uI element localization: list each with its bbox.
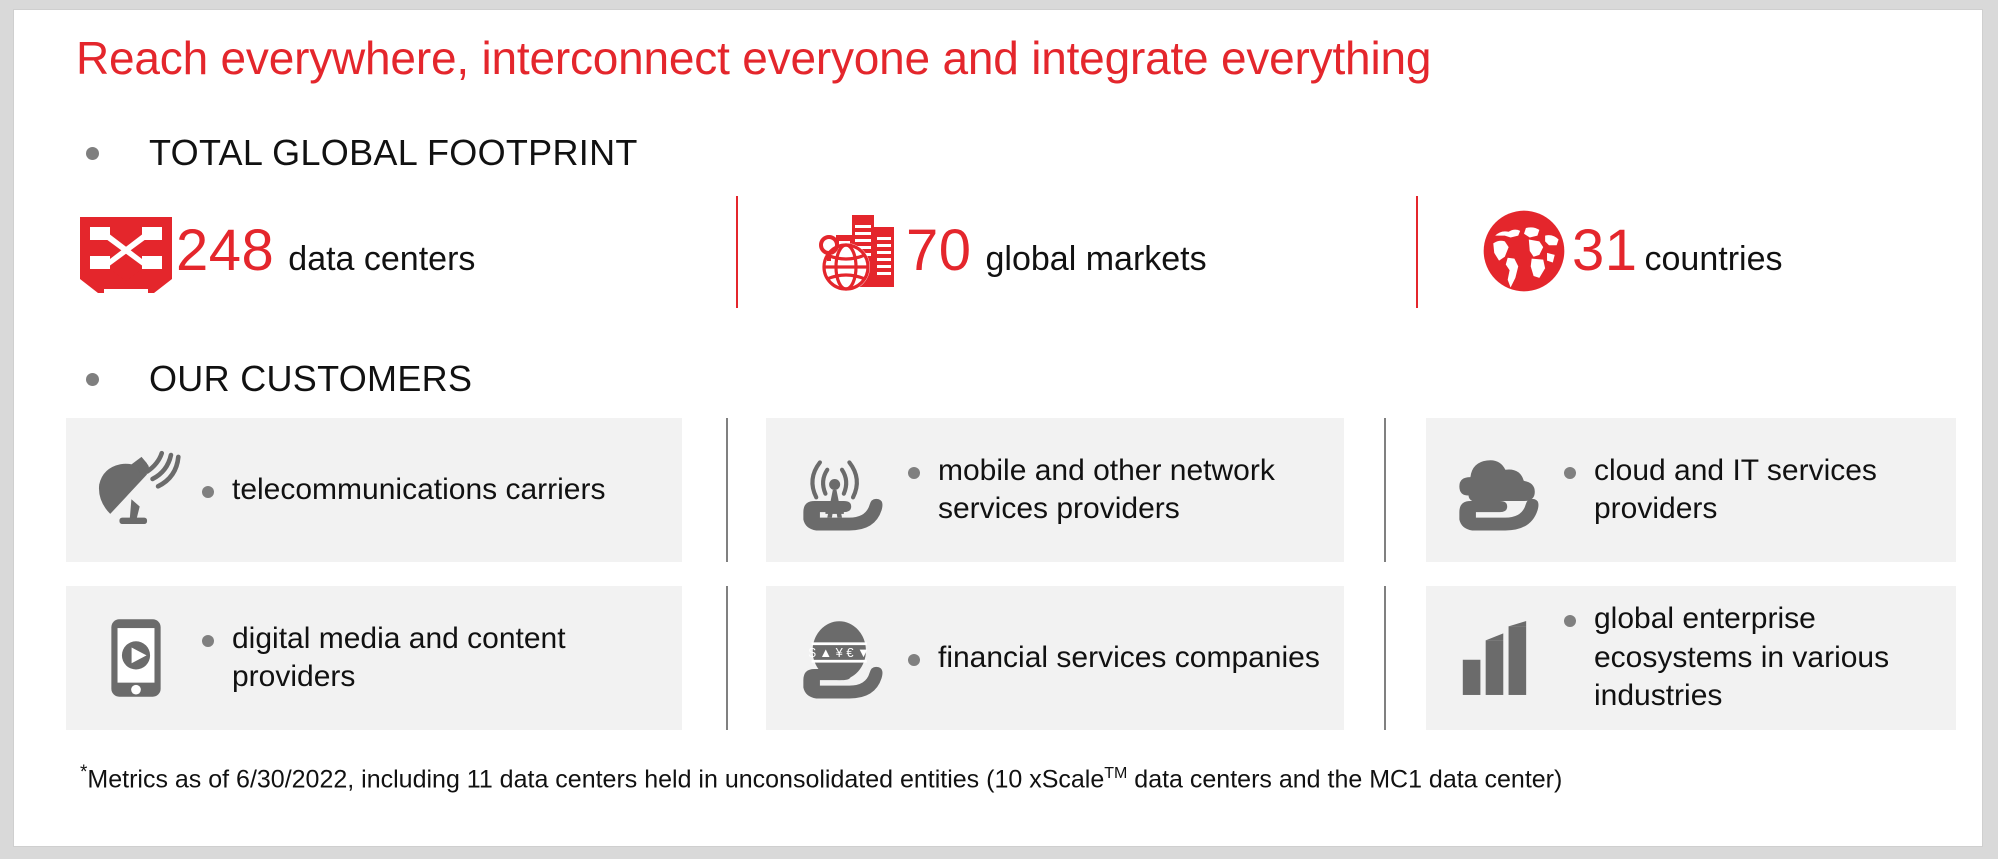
world-globe-icon	[1476, 203, 1572, 299]
customer-cards-grid: telecommunications carriers	[66, 418, 1956, 730]
stat-label: data centers	[288, 242, 475, 276]
slide-canvas: Reach everywhere, interconnect everyone …	[14, 10, 1982, 846]
footprint-stats-row: 248 data centers	[76, 190, 1926, 312]
footnote-trademark: TM	[1104, 765, 1127, 782]
card-divider	[1384, 586, 1386, 730]
card-label: telecommunications carriers	[232, 471, 605, 509]
customer-card-global-enterprise-ecosystems[interactable]: global enterprise ecosystems in various …	[1426, 586, 1956, 730]
hand-antenna-tower-icon	[788, 444, 896, 536]
satellite-dish-icon	[82, 444, 190, 536]
section-heading-our-customers: OUR CUSTOMERS	[86, 358, 472, 400]
card-body: cloud and IT services providers	[1564, 452, 1956, 529]
stat-label: global markets	[986, 242, 1207, 276]
customer-card-financial-services[interactable]: $ ▲ ¥ € ▼ financial services companies	[766, 586, 1344, 730]
stat-value: 248	[176, 222, 274, 280]
bullet-icon	[908, 467, 920, 479]
card-body: digital media and content providers	[202, 620, 682, 697]
card-divider	[726, 586, 728, 730]
section-heading-label: OUR CUSTOMERS	[149, 358, 472, 400]
stat-global-markets: 70 global markets	[806, 190, 1426, 312]
card-divider	[1384, 418, 1386, 562]
card-label: digital media and content providers	[232, 620, 682, 697]
stat-value: 31	[1572, 222, 1638, 280]
card-divider	[726, 418, 728, 562]
stat-divider	[736, 196, 738, 308]
card-body: financial services companies	[908, 639, 1320, 677]
customer-card-cloud-it-services[interactable]: cloud and IT services providers	[1426, 418, 1956, 562]
stat-value: 70	[906, 222, 972, 280]
bullet-icon	[1564, 615, 1576, 627]
stat-text: 31 countries	[1572, 222, 1782, 280]
currency-ticker-label: $ ▲ ¥ € ▼	[809, 645, 870, 660]
card-label: global enterprise ecosystems in various …	[1594, 600, 1956, 715]
card-label: cloud and IT services providers	[1594, 452, 1956, 529]
bullet-icon	[202, 635, 214, 647]
bar-buildings-icon	[1444, 614, 1552, 702]
footnote: *Metrics as of 6/30/2022, including 11 d…	[80, 762, 1562, 794]
stat-data-centers: 248 data centers	[76, 190, 736, 312]
card-body: mobile and other network services provid…	[908, 452, 1344, 529]
footnote-part1: Metrics as of 6/30/2022, including 11 da…	[87, 765, 1104, 793]
bullet-icon	[202, 486, 214, 498]
bullet-icon	[86, 373, 99, 386]
card-label: financial services companies	[938, 639, 1320, 677]
hand-cloud-icon	[1444, 444, 1552, 536]
bullet-icon	[1564, 467, 1576, 479]
card-body: global enterprise ecosystems in various …	[1564, 600, 1956, 715]
stat-text: 248 data centers	[176, 222, 475, 280]
section-heading-label: TOTAL GLOBAL FOOTPRINT	[149, 132, 638, 174]
stat-label: countries	[1645, 242, 1783, 276]
card-body: telecommunications carriers	[202, 471, 605, 509]
customer-card-digital-media-content[interactable]: digital media and content providers	[66, 586, 682, 730]
section-heading-total-global-footprint: TOTAL GLOBAL FOOTPRINT	[86, 132, 638, 174]
bullet-icon	[86, 147, 99, 160]
stat-countries: 31 countries	[1476, 190, 1926, 312]
stat-text: 70 global markets	[906, 222, 1207, 280]
customer-card-mobile-network-services[interactable]: mobile and other network services provid…	[766, 418, 1344, 562]
card-label: mobile and other network services provid…	[938, 452, 1344, 529]
footnote-part2: data centers and the MC1 data center)	[1127, 765, 1562, 793]
tablet-play-icon	[82, 614, 190, 702]
page-title: Reach everywhere, interconnect everyone …	[76, 34, 1431, 82]
city-globe-icon	[806, 201, 906, 301]
customer-card-telecommunications-carriers[interactable]: telecommunications carriers	[66, 418, 682, 562]
equinix-logo-icon	[76, 201, 176, 301]
hand-currency-globe-icon: $ ▲ ¥ € ▼	[788, 612, 896, 704]
bullet-icon	[908, 654, 920, 666]
